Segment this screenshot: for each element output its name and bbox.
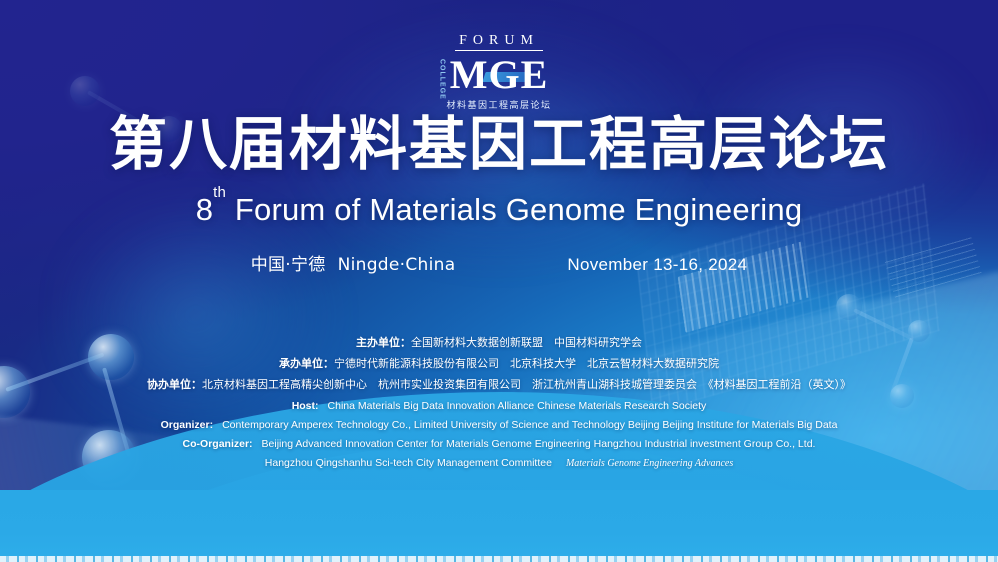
organizer-label: Co-Organizer: [183, 438, 253, 450]
page-title-english: 8th Forum of Materials Genome Engineerin… [0, 192, 998, 228]
organizer-value: 北京材料基因工程高精尖创新中心 杭州市实业投资集团有限公司 浙江杭州青山湖科技城… [202, 378, 851, 391]
journal-name: Materials Genome Engineering Advances [566, 458, 733, 469]
bottom-cyan-band [0, 490, 998, 562]
organizer-label: 主办单位： [356, 336, 411, 349]
title-english-ordinal: th [213, 184, 226, 201]
organizer-value: Contemporary Amperex Technology Co., Lim… [222, 419, 837, 431]
organizer-block: 主办单位：全国新材料大数据创新联盟 中国材料研究学会 承办单位：宁德时代新能源科… [0, 332, 998, 472]
organizer-row-cn: 承办单位：宁德时代新能源科技股份有限公司 北京科技大学 北京云智材料大数据研究院 [0, 353, 998, 374]
bottom-edge-strip [0, 556, 998, 562]
organizer-row-cn: 主办单位：全国新材料大数据创新联盟 中国材料研究学会 [0, 332, 998, 353]
event-date: November 13-16, 2024 [567, 255, 747, 275]
organizer-label: 承办单位： [279, 357, 334, 370]
organizer-value: 全国新材料大数据创新联盟 中国材料研究学会 [411, 336, 642, 349]
page-title-chinese: 第八届材料基因工程高层论坛 [0, 115, 998, 174]
event-place-chinese: 中国·宁德 [251, 250, 326, 275]
organizer-label: Organizer: [161, 419, 214, 431]
organizer-row-en: Host:China Materials Big Data Innovation… [0, 398, 998, 414]
organizer-row-en: Co-Organizer:Beijing Advanced Innovation… [0, 436, 998, 452]
logo-side-text: COLLEGE [439, 59, 446, 100]
title-english-rest: Forum of Materials Genome Engineering [226, 192, 802, 227]
organizer-value: 宁德时代新能源科技股份有限公司 北京科技大学 北京云智材料大数据研究院 [334, 357, 719, 370]
organizer-label: Host: [292, 400, 319, 412]
logo-mge-text: MGE [450, 52, 549, 97]
mge-forum-logo: FORUM COLLEGE MGE 材料基因工程高层论坛 [0, 34, 998, 111]
conference-poster: FORUM COLLEGE MGE 材料基因工程高层论坛 第八届材料基因工程高层… [0, 0, 998, 562]
organizer-value: Beijing Advanced Innovation Center for M… [262, 438, 816, 450]
organizer-row-en-last: Hangzhou Qingshanhu Sci-tech City Manage… [0, 455, 998, 472]
event-meta: 中国·宁德 Ningde·China November 13-16, 2024 [0, 250, 998, 275]
title-english-number: 8 [196, 192, 213, 227]
organizer-value: China Materials Big Data Innovation Alli… [328, 400, 707, 412]
organizer-row-en: Organizer:Contemporary Amperex Technolog… [0, 417, 998, 433]
organizer-row-cn: 协办单位：北京材料基因工程高精尖创新中心 杭州市实业投资集团有限公司 浙江杭州青… [0, 374, 998, 395]
logo-forum-word: FORUM [455, 34, 543, 51]
logo-mge-mark: COLLEGE MGE [450, 55, 549, 95]
organizer-label: 协办单位： [147, 378, 202, 391]
organizer-value: Hangzhou Qingshanhu Sci-tech City Manage… [265, 457, 552, 469]
event-place-english: Ningde·China [338, 255, 456, 275]
